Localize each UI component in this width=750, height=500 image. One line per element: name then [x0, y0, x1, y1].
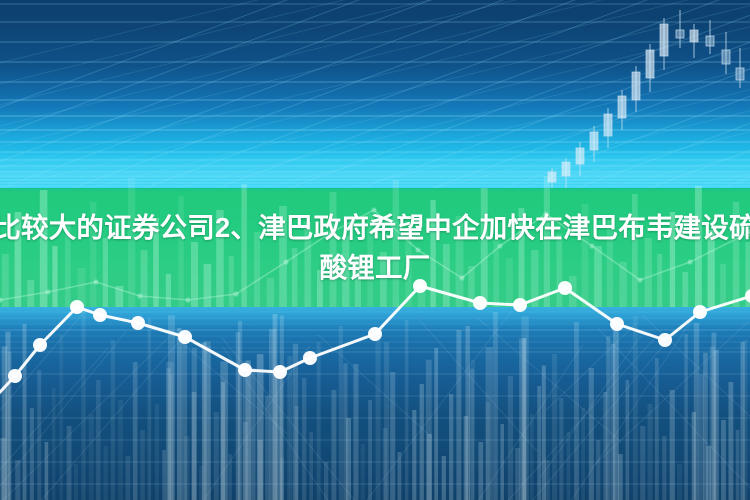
headline-block: 比较大的证券公司2、津巴政府希望中企加快在津巴布韦建设硫 酸锂工厂: [0, 188, 750, 308]
headline-line-1: 比较大的证券公司2、津巴政府希望中企加快在津巴布韦建设硫: [0, 208, 750, 248]
banner-image: 比较大的证券公司2、津巴政府希望中企加快在津巴布韦建设硫 酸锂工厂: [0, 0, 750, 500]
headline-line-2: 酸锂工厂: [320, 248, 431, 288]
